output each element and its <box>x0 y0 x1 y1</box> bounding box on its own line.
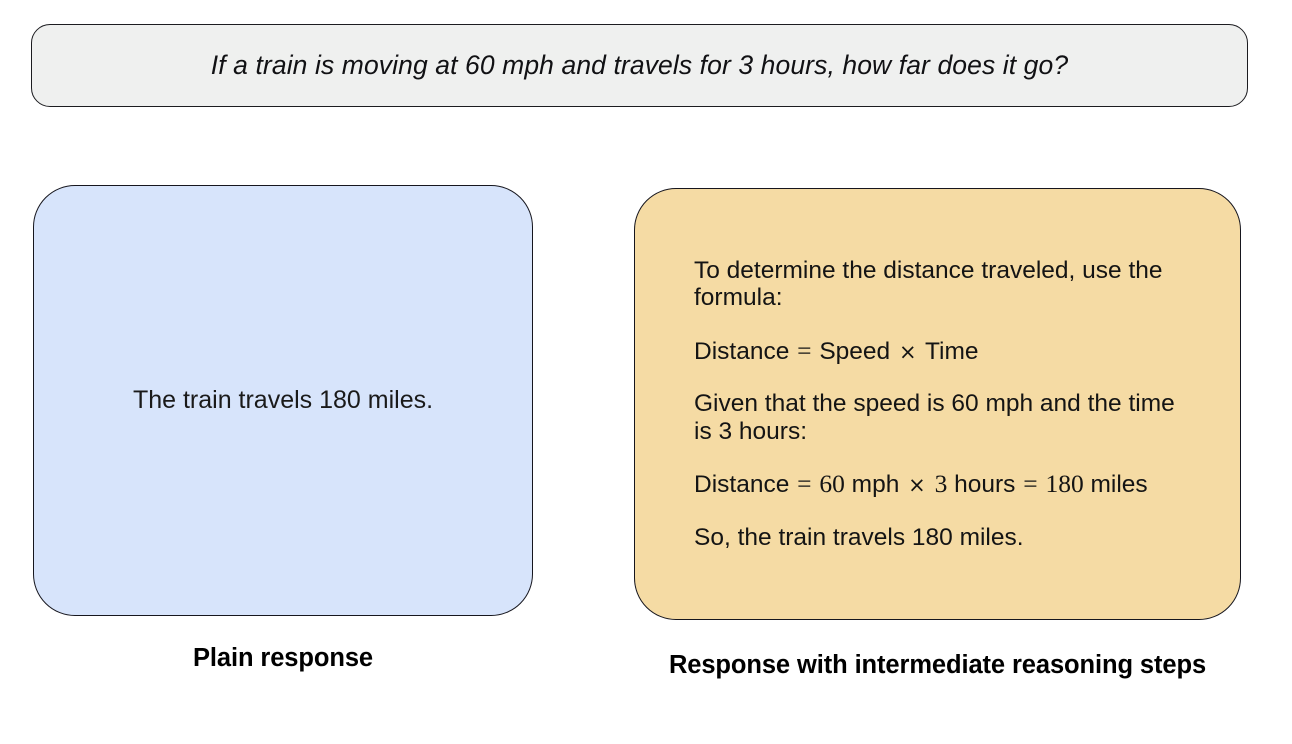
plain-response-text: The train travels 180 miles. <box>109 384 457 417</box>
computation-time-unit: hours <box>954 471 1015 498</box>
formula-operand-speed: Speed <box>819 338 890 365</box>
reasoning-paragraph-intro: To determine the distance traveled, use … <box>694 257 1199 312</box>
prompt-text: If a train is moving at 60 mph and trave… <box>211 50 1068 81</box>
reasoning-paragraph-formula: Distance = Speed × Time <box>694 337 1199 366</box>
reasoning-response-caption: Response with intermediate reasoning ste… <box>634 650 1241 681</box>
formula-lead: Distance <box>694 338 789 365</box>
computation-time-value: 3 <box>935 469 948 498</box>
computation-lead: Distance <box>694 471 789 498</box>
prompt-box: If a train is moving at 60 mph and trave… <box>31 24 1248 107</box>
reasoning-body: To determine the distance traveled, use … <box>694 257 1240 551</box>
formula-operand-time: Time <box>925 338 979 365</box>
formula-equals-sign: = <box>796 336 812 365</box>
reasoning-paragraph-given: Given that the speed is 60 mph and the t… <box>694 390 1199 445</box>
computation-equals-sign-2: = <box>1022 469 1038 498</box>
reasoning-paragraph-computation: Distance = 60 mph × 3 hours = 180 miles <box>694 470 1199 499</box>
plain-response-caption: Plain response <box>33 643 533 674</box>
computation-result-unit: miles <box>1091 471 1148 498</box>
computation-speed-unit: mph <box>852 471 900 498</box>
computation-equals-sign-1: = <box>796 469 812 498</box>
computation-speed-value: 60 <box>819 469 845 498</box>
computation-result-value: 180 <box>1045 469 1083 498</box>
multiplication-icon: × <box>897 340 919 364</box>
reasoning-paragraph-conclusion: So, the train travels 180 miles. <box>694 524 1199 551</box>
multiplication-icon: × <box>906 473 928 497</box>
reasoning-response-panel: To determine the distance traveled, use … <box>634 188 1241 620</box>
plain-response-panel: The train travels 180 miles. <box>33 185 533 616</box>
